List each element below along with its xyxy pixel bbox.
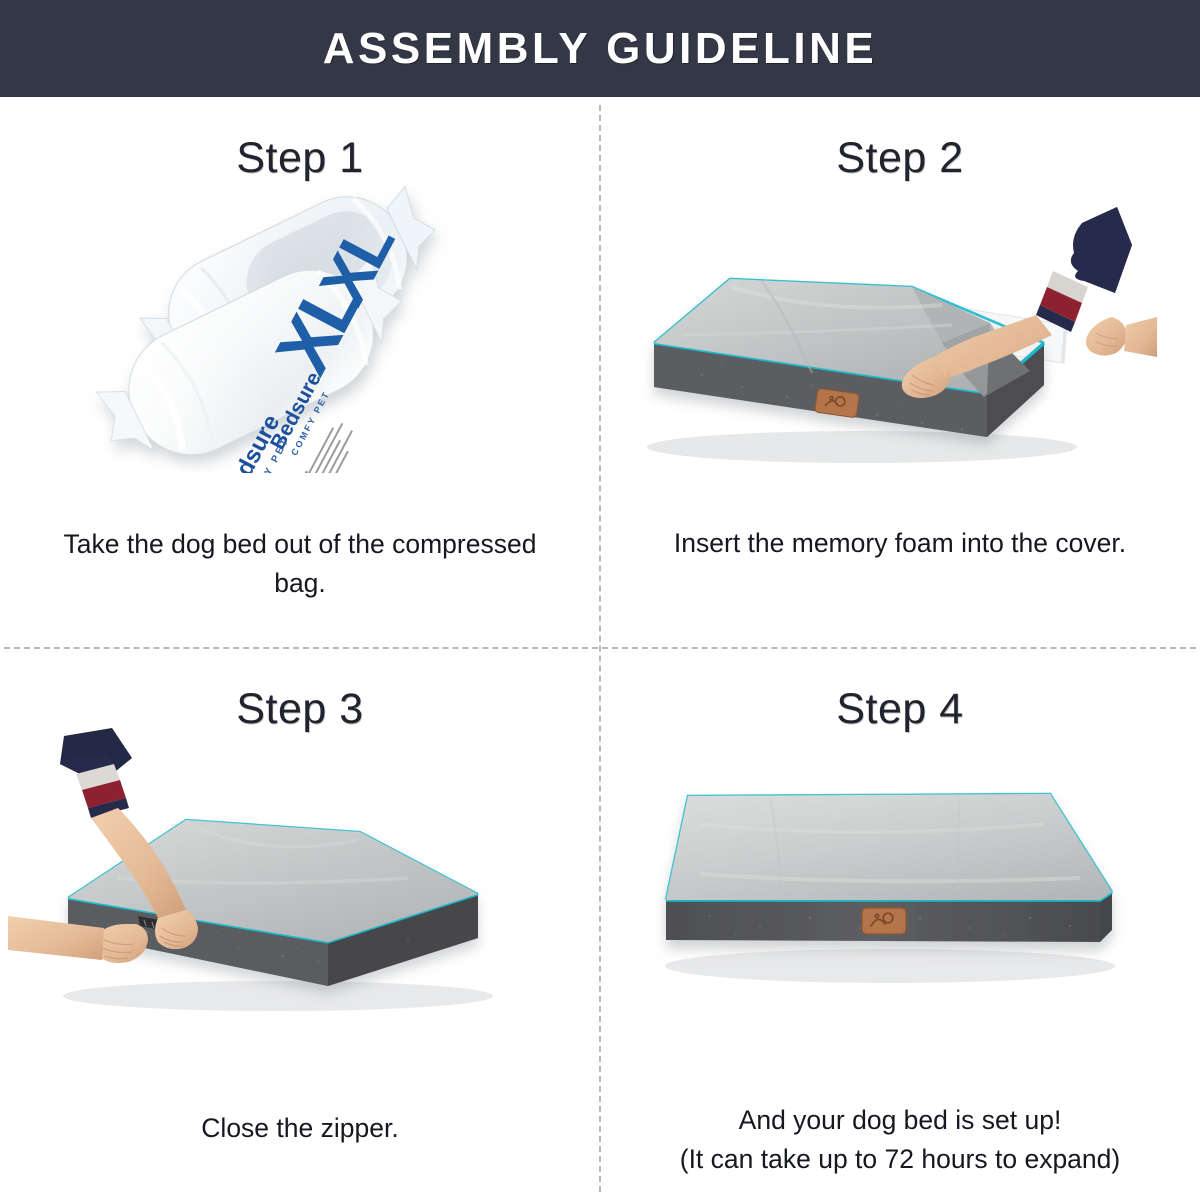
person-left-hand xyxy=(1086,317,1157,357)
page-title: ASSEMBLY GUIDELINE xyxy=(323,24,877,74)
step-1-artwork: Bedsure COMFY PET XL Bedsure xyxy=(20,183,580,525)
step-panel-4: Step 4 xyxy=(600,648,1200,1200)
close-zipper-image xyxy=(8,728,568,1028)
step-1-caption: Take the dog bed out of the compressed b… xyxy=(40,525,560,602)
leather-logo-tag xyxy=(815,388,860,418)
leather-logo-tag xyxy=(862,908,906,934)
step-panel-3: Step 3 xyxy=(0,648,600,1200)
bed-top-cover xyxy=(666,794,1112,900)
step-panel-1: Step 1 xyxy=(0,97,600,648)
finished-bed-image xyxy=(630,754,1190,1014)
assembly-guideline-infographic: ASSEMBLY GUIDELINE Step 1 xyxy=(0,0,1200,1200)
compressed-bags-image: Bedsure COMFY PET XL Bedsure xyxy=(20,183,580,473)
step-panel-2: Step 2 xyxy=(600,97,1200,648)
step-2-caption: Insert the memory foam into the cover. xyxy=(640,524,1160,562)
step-3-artwork xyxy=(20,734,580,1109)
step-4-caption: And your dog bed is set up! (It can take… xyxy=(640,1101,1160,1178)
step-1-title: Step 1 xyxy=(236,134,363,183)
step-4-caption-line-1: And your dog bed is set up! xyxy=(640,1101,1160,1139)
step-4-artwork xyxy=(620,734,1180,1101)
step-3-title: Step 3 xyxy=(236,685,363,734)
steps-grid: Step 1 xyxy=(0,97,1200,1200)
step-4-caption-line-2: (It can take up to 72 hours to expand) xyxy=(640,1140,1160,1178)
sleeve-stripes xyxy=(76,764,129,818)
header-banner: ASSEMBLY GUIDELINE xyxy=(0,0,1200,97)
step-3-caption: Close the zipper. xyxy=(40,1109,560,1147)
step-4-title: Step 4 xyxy=(836,685,963,734)
step-2-artwork xyxy=(620,183,1180,524)
insert-foam-image xyxy=(612,175,1172,475)
